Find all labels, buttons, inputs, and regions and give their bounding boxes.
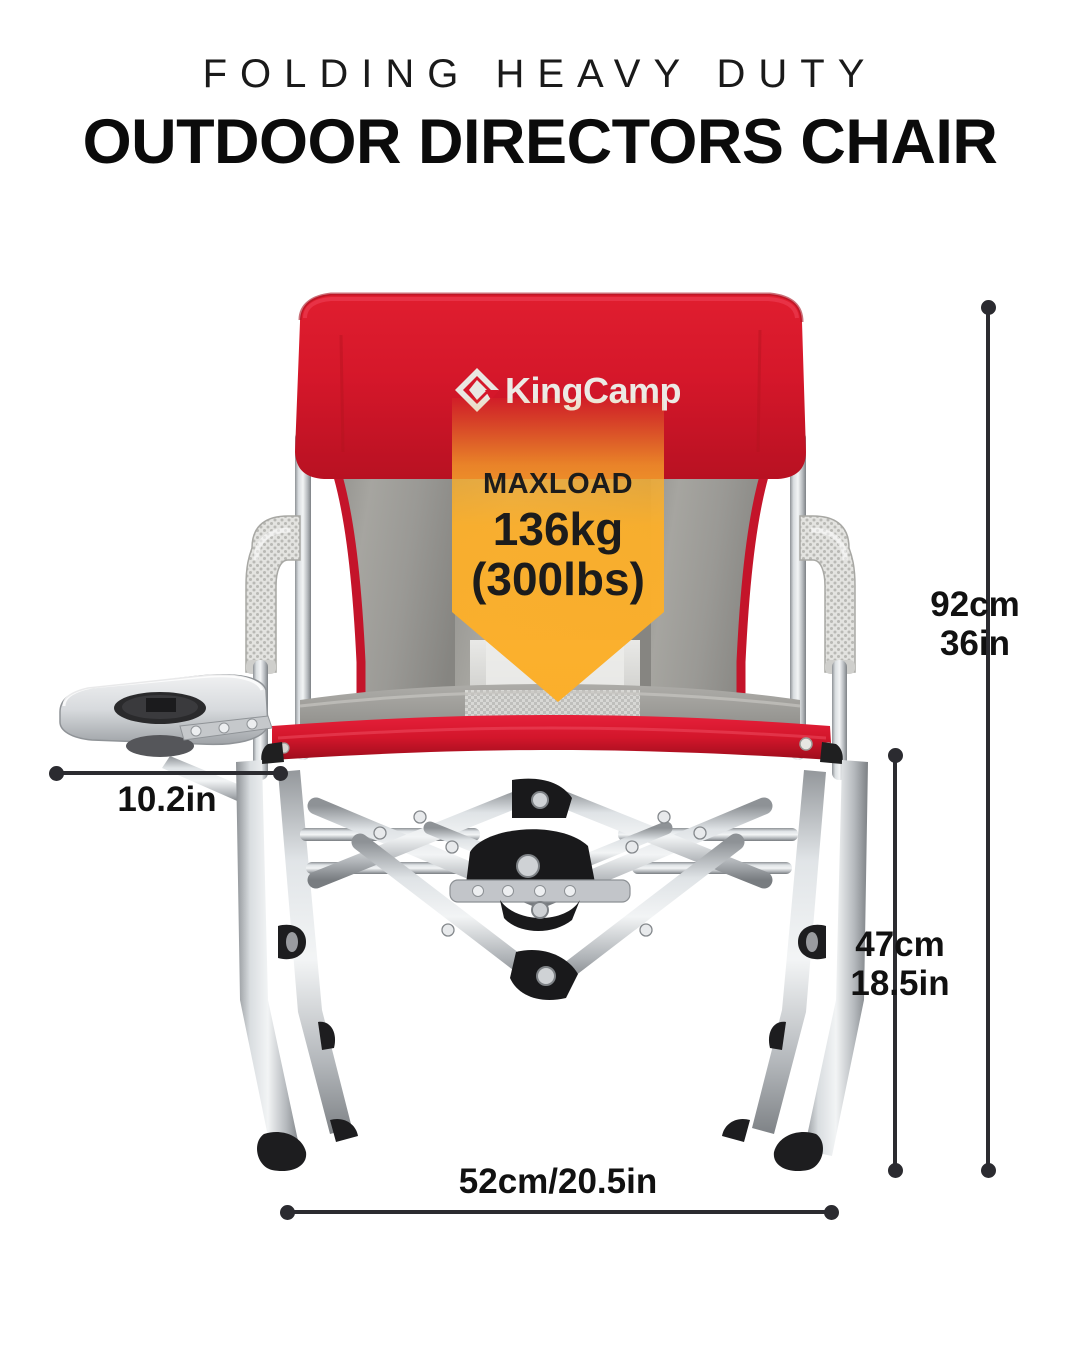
seat-value-in: 18.5in — [850, 964, 949, 1003]
hub-top — [512, 779, 572, 818]
dimlabel-overall-height: 92cm 36in — [900, 585, 1050, 663]
backrest-fabric-left — [330, 455, 470, 720]
pad-seam-left — [341, 335, 343, 452]
dimdot-table-left — [49, 766, 64, 781]
pad-seam-right — [758, 330, 760, 452]
dimdot-seat-top — [888, 748, 903, 763]
dimlabel-seat-height: 47cm 18.5in — [820, 925, 980, 1003]
dimdot-width-right — [824, 1205, 839, 1220]
dimdot-height-top — [981, 300, 996, 315]
dimdot-height-bottom — [981, 1163, 996, 1178]
product-infographic: FOLDING HEAVY DUTY OUTDOOR DIRECTORS CHA… — [0, 0, 1080, 1350]
cupholder-slot — [146, 698, 176, 712]
hub-center — [450, 829, 630, 931]
width-value: 52cm/20.5in — [459, 1162, 657, 1201]
dimlabel-overall-width: 52cm/20.5in — [358, 1162, 758, 1201]
seat-value-cm: 47cm — [855, 925, 945, 964]
dimline-side-table — [56, 771, 281, 775]
folding-mechanism — [316, 779, 764, 1000]
dimline-overall-width — [286, 1210, 831, 1214]
armrest-right — [800, 516, 855, 674]
seat-front-trim — [272, 715, 833, 760]
dimdot-seat-bottom — [888, 1163, 903, 1178]
dimline-overall-height — [986, 305, 990, 1177]
dimlabel-side-table: 10.2in — [52, 780, 282, 819]
hub-bottom — [510, 950, 578, 1000]
dimdot-table-right — [273, 766, 288, 781]
chair-illustration: KingCamp — [0, 0, 1080, 1350]
trim-rivet-right — [800, 738, 812, 750]
table-value: 10.2in — [117, 780, 216, 819]
armrest-left — [246, 516, 300, 674]
height-value-cm: 92cm — [930, 585, 1020, 624]
height-value-in: 36in — [940, 624, 1010, 663]
dimdot-width-left — [280, 1205, 295, 1220]
